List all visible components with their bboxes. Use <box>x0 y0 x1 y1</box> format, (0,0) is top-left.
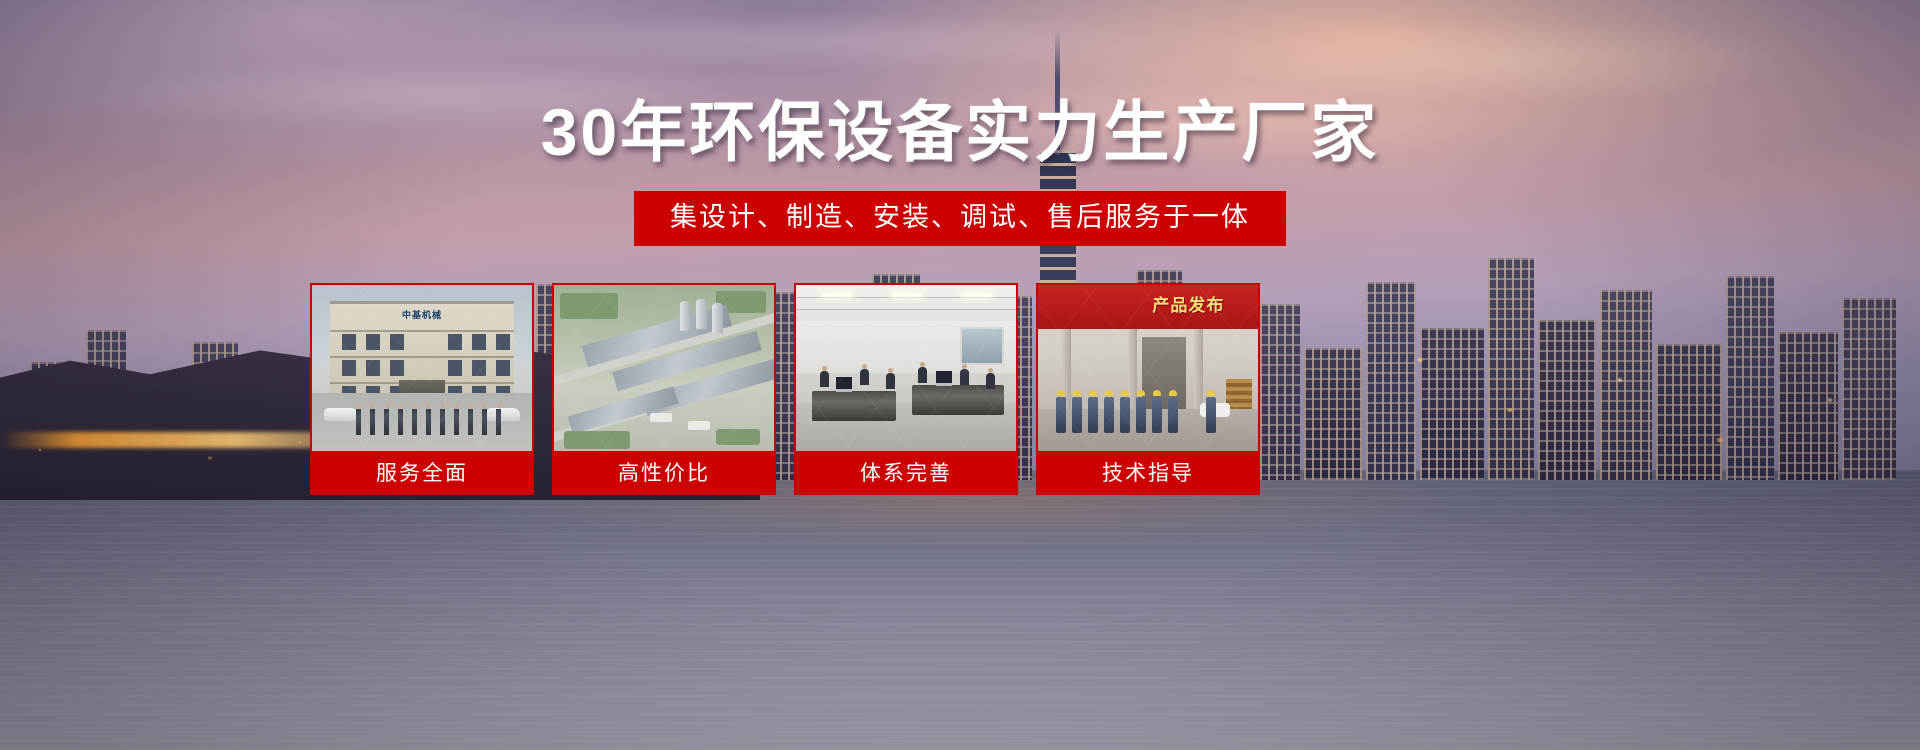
building-sign-label: 中基机械 <box>402 308 442 321</box>
card-photo <box>796 285 1016 455</box>
feature-card[interactable]: 体系完善 <box>794 283 1018 495</box>
feature-card[interactable]: 产品发布 <box>1036 283 1260 495</box>
subtitle-container: 集设计、制造、安装、调试、售后服务于一体 <box>0 191 1920 246</box>
card-caption: 技术指导 <box>1038 451 1258 493</box>
card-caption: 服务全面 <box>312 451 532 493</box>
feature-card[interactable]: 中基机械 <box>310 283 534 495</box>
card-photo <box>554 285 774 455</box>
workshop-banner <box>1038 285 1258 329</box>
hero-banner: 30年环保设备实力生产厂家 集设计、制造、安装、调试、售后服务于一体 中基机械 <box>0 0 1920 750</box>
page-title: 30年环保设备实力生产厂家 <box>541 96 1379 169</box>
subtitle-ribbon: 集设计、制造、安装、调试、售后服务于一体 <box>634 191 1286 246</box>
feature-card[interactable]: 高性价比 <box>552 283 776 495</box>
card-photo: 产品发布 <box>1038 285 1258 455</box>
feature-card-list: 中基机械 <box>310 283 1260 495</box>
card-caption: 高性价比 <box>554 451 774 493</box>
city-lights-right <box>1360 300 1920 520</box>
card-photo: 中基机械 <box>312 285 532 455</box>
headline-container: 30年环保设备实力生产厂家 <box>0 96 1920 169</box>
card-caption: 体系完善 <box>796 451 1016 493</box>
workshop-banner-text: 产品发布 <box>1152 291 1224 316</box>
